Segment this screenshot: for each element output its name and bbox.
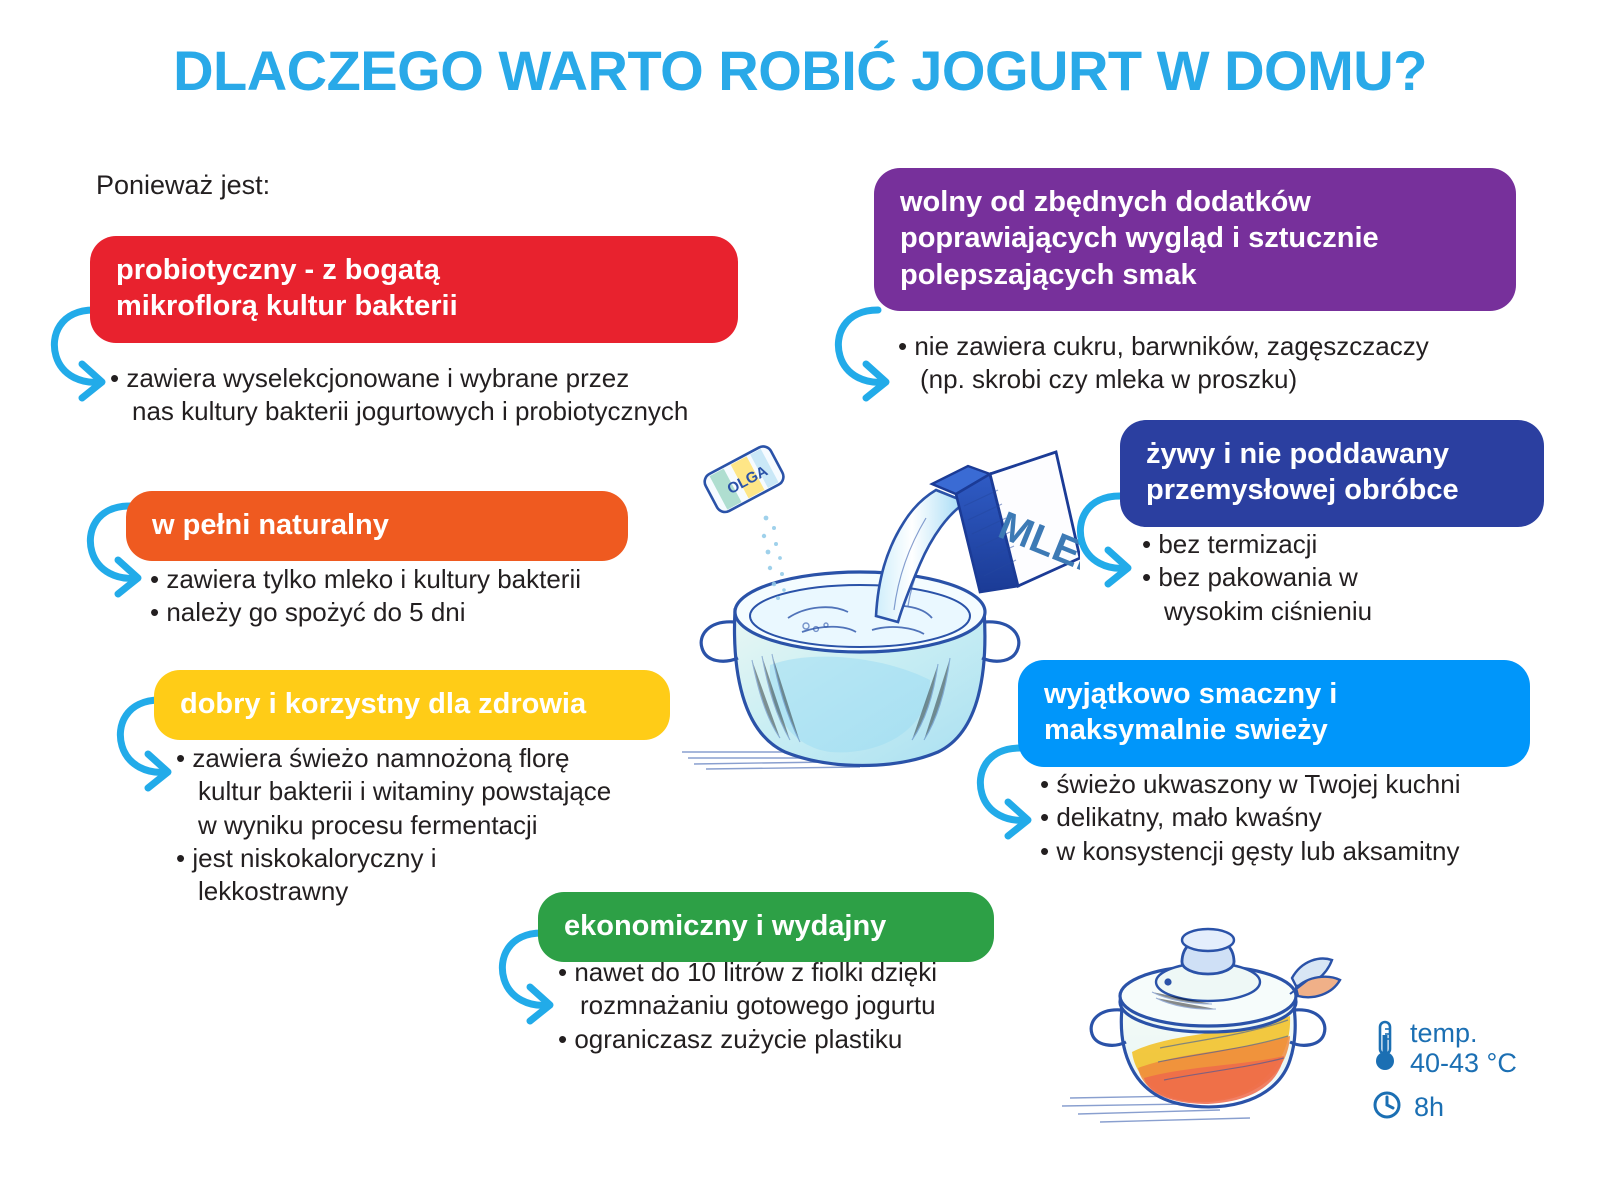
benefit-bullets-probiotyczny: • zawiera wyselekcjonowane i wybrane prz… [110,362,830,429]
benefit-pill-probiotyczny: probiotyczny - z bogatą mikroflorą kultu… [90,236,738,343]
temperature-value: temp. 40-43 °C [1410,1018,1517,1078]
benefit-pill-ekonomiczny: ekonomiczny i wydajny [538,892,994,962]
benefit-bullets-zdrowie: • zawiera świeżo namnożoną florę kultur … [176,742,736,908]
milk-carton: MLEKO [932,452,1080,598]
thermometer-icon [1372,1019,1398,1078]
leaf-icon [1290,959,1340,998]
list-item: • w konsystencji gęsty lub aksamitny [1040,835,1600,868]
benefit-bullets-naturalny: • zawiera tylko mleko i kultury bakterii… [150,563,750,630]
list-item: • zawiera świeżo namnożoną florę kultur … [176,742,736,842]
benefit-pill-smaczny: wyjątkowo smaczny i maksymalnie swieży [1018,660,1530,767]
intro-text: Ponieważ jest: [96,170,270,201]
clock-icon [1372,1090,1402,1125]
list-item: • ograniczasz zużycie plastiku [558,1023,1078,1056]
benefit-pill-zywy: żywy i nie poddawany przemysłowej obróbc… [1120,420,1544,527]
list-item: • zawiera wyselekcjonowane i wybrane prz… [110,362,830,429]
benefit-bullets-bez-dodatkow: • nie zawiera cukru, barwników, zagęszcz… [898,330,1598,397]
list-item: • należy go spożyć do 5 dni [150,596,750,629]
measure-time: 8h [1372,1090,1444,1125]
measure-temperature: temp. 40-43 °C [1372,1018,1517,1078]
list-item: • nie zawiera cukru, barwników, zagęszcz… [898,330,1598,397]
benefit-pill-zdrowie: dobry i korzystny dla zdrowia [154,670,670,740]
infographic-root: DLACZEGO WARTO ROBIĆ JOGURT W DOMU? Poni… [0,0,1600,1200]
page-title: DLACZEGO WARTO ROBIĆ JOGURT W DOMU? [0,38,1600,103]
benefit-bullets-smaczny: • świeżo ukwaszony w Twojej kuchni • del… [1040,768,1600,868]
list-item: • zawiera tylko mleko i kultury bakterii [150,563,750,596]
benefit-bullets-ekonomiczny: • nawet do 10 litrów z fiolki dzięki roz… [558,956,1078,1056]
benefit-pill-naturalny: w pełni naturalny [126,491,628,561]
list-item: • świeżo ukwaszony w Twojej kuchni [1040,768,1600,801]
list-item: • bez pakowania w wysokim ciśnieniu [1142,561,1592,628]
covered-pot-illustration [1040,890,1370,1140]
benefit-pill-bez-dodatkow: wolny od zbędnych dodatków poprawiającyc… [874,168,1516,311]
time-value: 8h [1414,1092,1444,1122]
list-item: • delikatny, mało kwaśny [1040,801,1600,834]
list-item: • nawet do 10 litrów z fiolki dzięki roz… [558,956,1078,1023]
arrow-icon-bez-dodatkow [826,302,896,407]
list-item: • bez termizacji [1142,528,1592,561]
benefit-bullets-zywy: • bez termizacji • bez pakowania w wysok… [1142,528,1592,628]
